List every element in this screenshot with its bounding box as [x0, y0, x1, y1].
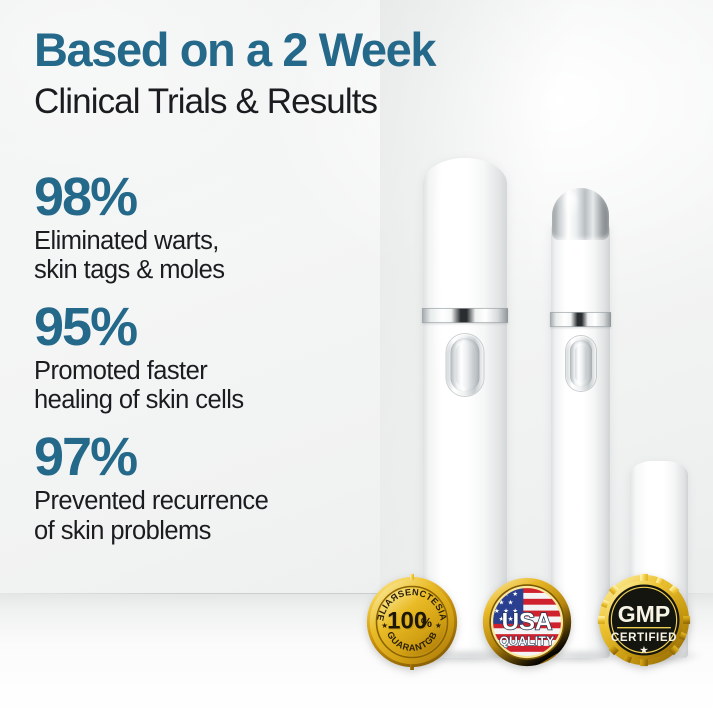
usa-flag-seal-icon: ★★★ ★★ ★★★ ★★ USA QUALITY: [481, 576, 573, 668]
page-title: Based on a 2 Week: [34, 26, 434, 75]
usa-quality-badge[interactable]: ★★★ ★★ ★★★ ★★ USA QUALITY: [481, 576, 573, 668]
gmp-seal-icon: GMP CERTIFIED ★: [596, 572, 692, 668]
product-infographic: Based on a 2 Week Clinical Trials & Resu…: [0, 0, 713, 713]
page-subtitle: Clinical Trials & Results: [34, 81, 434, 122]
stat-description: Promoted faster healing of skin cells: [34, 357, 394, 415]
device-chrome-band: [422, 308, 508, 323]
trust-badge-group: ƎLIAЯSENCTESIA GUARANTGB 100 100 % ★ ★: [358, 572, 703, 672]
badge-line2: CERTIFIED: [611, 632, 677, 644]
stat-percentage: 95%: [34, 300, 394, 355]
device-power-button[interactable]: [566, 336, 596, 391]
badge-star-right: ★: [435, 621, 442, 630]
badge-line1: GMP: [618, 601, 670, 627]
stat-item: 98% Eliminated warts, skin tags & moles: [34, 170, 394, 285]
badge-line2: QUALITY: [499, 634, 554, 648]
svg-text:★: ★: [508, 600, 514, 607]
band-edge-top: [422, 308, 508, 309]
badge-star: ★: [639, 645, 649, 657]
gmp-certified-badge[interactable]: GMP CERTIFIED ★: [596, 572, 692, 668]
badge-star-left: ★: [381, 621, 388, 630]
band-edge-bottom: [422, 322, 508, 323]
svg-text:★: ★: [512, 591, 518, 598]
band-edge-bottom: [550, 326, 611, 327]
headline-block: Based on a 2 Week Clinical Trials & Resu…: [34, 26, 434, 122]
stat-item: 95% Promoted faster healing of skin cell…: [34, 300, 394, 415]
band-edge-top: [550, 312, 611, 313]
guarantee-badge[interactable]: ƎLIAЯSENCTESIA GUARANTGB 100 100 % ★ ★: [364, 574, 460, 670]
stat-percentage: 97%: [34, 430, 394, 485]
stat-description: Eliminated warts, skin tags & moles: [34, 227, 394, 285]
stat-description: Prevented recurrence of skin problems: [34, 487, 394, 545]
stat-percentage: 98%: [34, 170, 394, 225]
device-power-button[interactable]: [447, 334, 484, 396]
gold-seal-icon: ƎLIAЯSENCTESIA GUARANTGB 100 100 % ★ ★: [364, 574, 460, 670]
badge-center-suffix: %: [421, 616, 432, 630]
statistics-list: 98% Eliminated warts, skin tags & moles …: [34, 170, 394, 546]
stat-item: 97% Prevented recurrence of skin problem…: [34, 430, 394, 545]
device-chrome-band: [550, 312, 611, 327]
device-chrome-tip: [552, 188, 609, 240]
badge-line1: USA: [502, 608, 552, 635]
